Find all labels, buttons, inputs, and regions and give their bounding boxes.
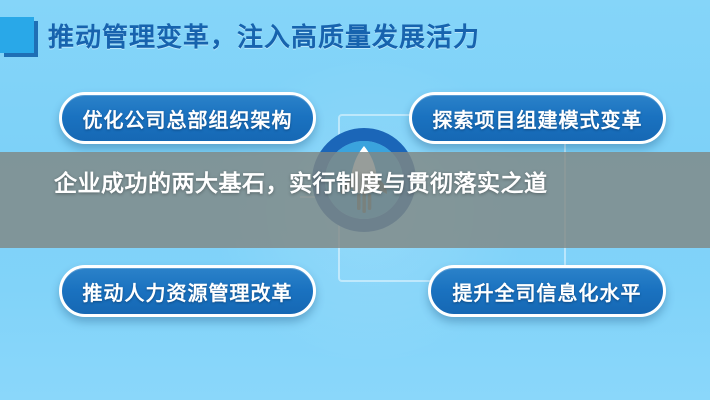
pill-optimize-hq-structure[interactable]: 优化公司总部组织架构 — [59, 92, 316, 144]
pill-informatization-level[interactable]: 提升全司信息化水平 — [428, 265, 666, 317]
pill-label: 探索项目组建模式变革 — [433, 104, 643, 133]
slide-heading: 推动管理变革，注入高质量发展活力 — [0, 14, 480, 56]
slide-canvas: 推动管理变革，注入高质量发展活力 优化公司总部组织架构 探索项目组建模式变革 推… — [0, 0, 710, 400]
pill-label: 优化公司总部组织架构 — [83, 104, 293, 133]
heading-accent-square — [0, 17, 34, 53]
pill-label: 提升全司信息化水平 — [453, 277, 642, 306]
caption-overlay-band: 企业成功的两大基石，实行制度与贯彻落实之道 — [0, 152, 710, 248]
heading-text: 推动管理变革，注入高质量发展活力 — [48, 17, 480, 54]
pill-label: 推动人力资源管理改革 — [83, 277, 293, 306]
pill-project-team-reform[interactable]: 探索项目组建模式变革 — [409, 92, 666, 144]
caption-text: 企业成功的两大基石，实行制度与贯彻落实之道 — [54, 166, 548, 200]
pill-hr-management-reform[interactable]: 推动人力资源管理改革 — [59, 265, 316, 317]
